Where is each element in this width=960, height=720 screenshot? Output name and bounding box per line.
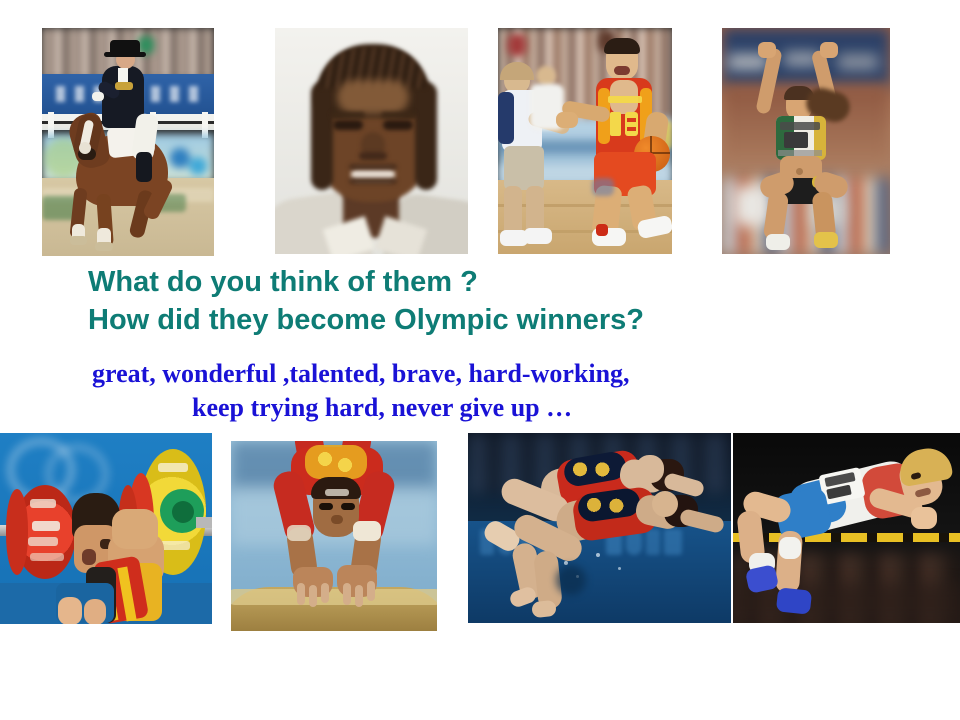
equestrian-dressage-photo: Rider in black top hat and tailcoat on a… (42, 28, 214, 256)
presentation-slide: Rider in black top hat and tailcoat on a… (0, 0, 960, 720)
adjectives-line-2: keep trying hard, never give up … (192, 393, 572, 423)
gymnast-vault-photo: Gymnast in red and gold leotard inverted… (231, 441, 437, 631)
headline-question-1: What do you think of them ? (88, 266, 478, 299)
synchronized-divers-photo: Two synchronized divers in red and gold … (468, 433, 731, 623)
athlete-portrait-photo: Close-up portrait of a smiling woman wit… (275, 28, 468, 254)
adjectives-line-1: great, wonderful ,talented, brave, hard-… (92, 359, 630, 389)
headline-question-2: How did they become Olympic winners? (88, 304, 644, 337)
long-jumper-photo: Female long jumper in mid-air with arms … (722, 28, 890, 254)
high-jumper-photo: High jumper in white and blue arching ba… (733, 433, 960, 623)
basketball-player-photo: Tall basketball player in red CHINA jers… (498, 28, 672, 254)
weightlifter-photo: Weightlifter in red and yellow straining… (0, 433, 212, 624)
